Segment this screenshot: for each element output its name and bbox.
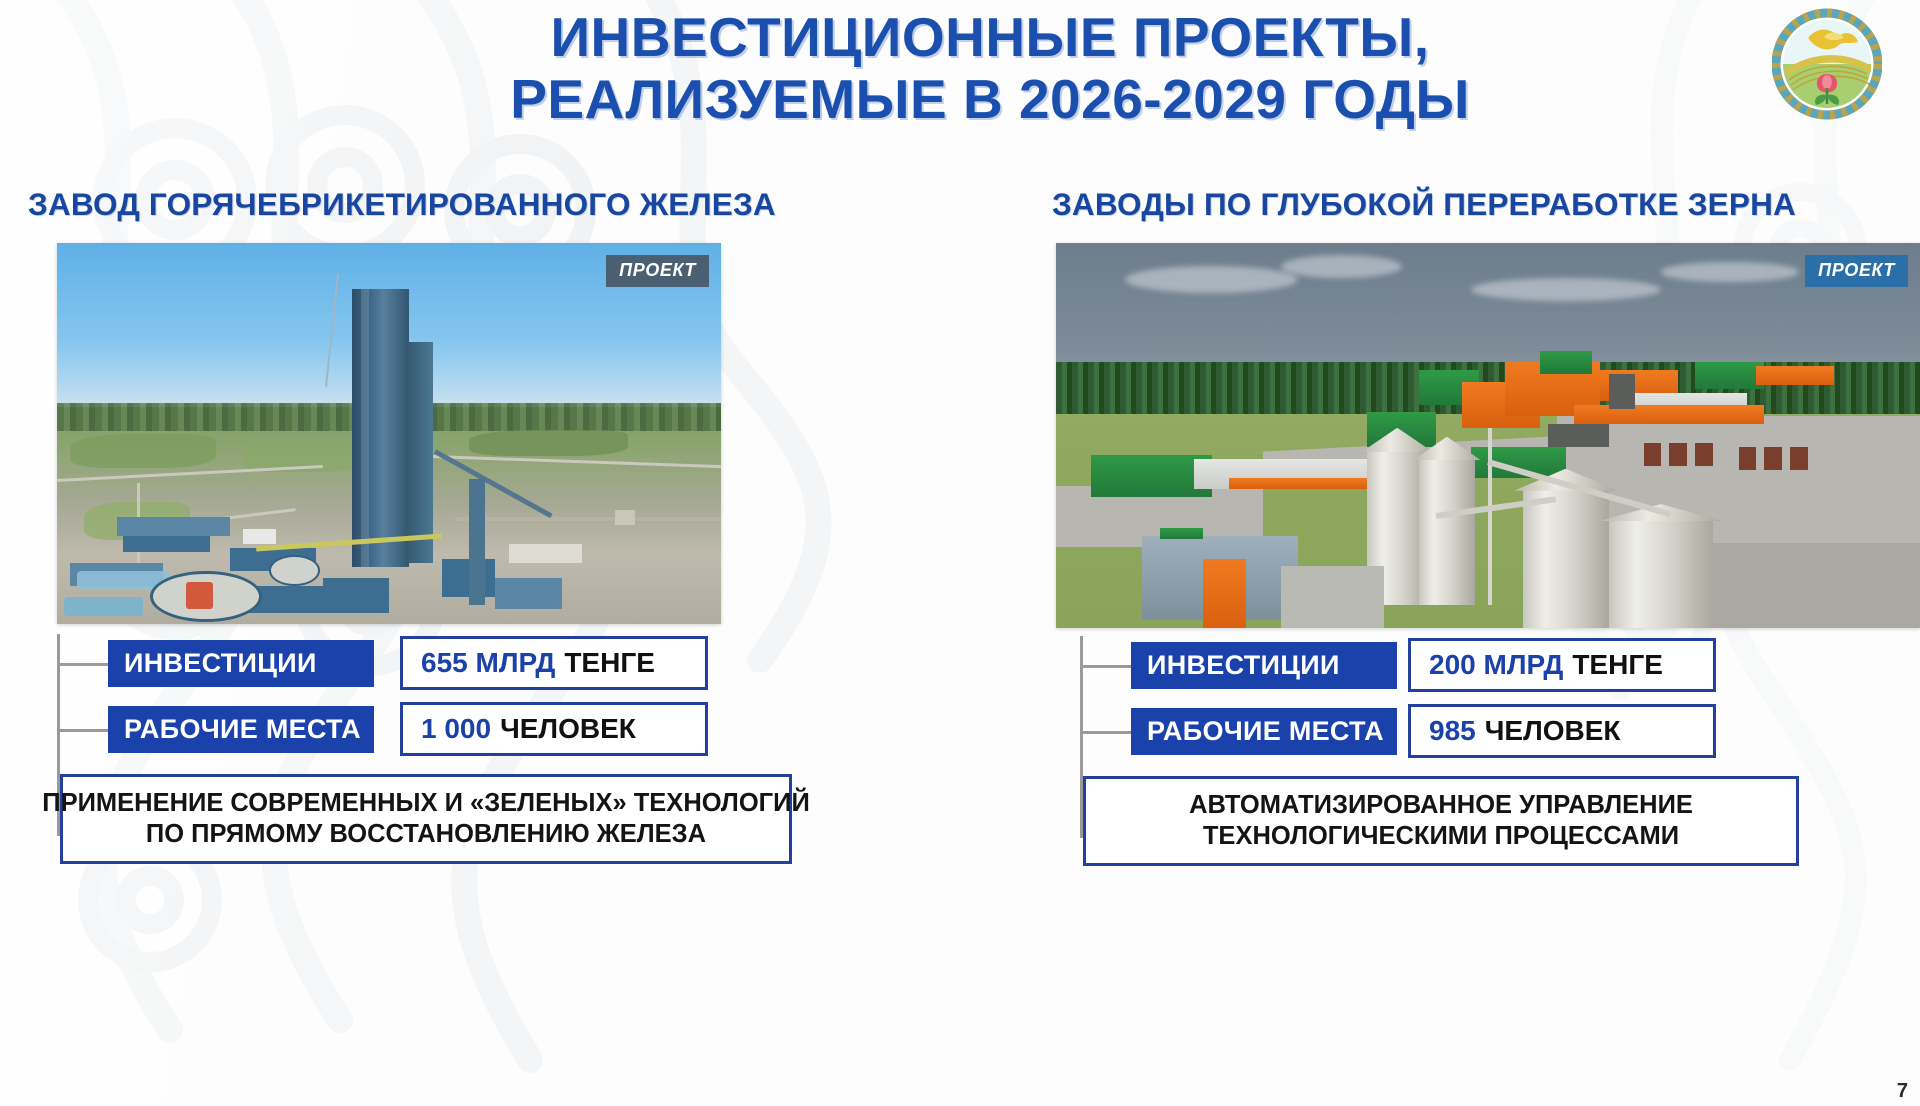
stat-label-jobs-right: РАБОЧИЕ МЕСТА — [1131, 708, 1397, 755]
page-number: 7 — [1897, 1080, 1908, 1103]
panel-hbi-plant: ЗАВОД ГОРЯЧЕБРИКЕТИРОВАННОГО ЖЕЛЕЗА — [0, 186, 960, 866]
regional-emblem-icon — [1772, 8, 1882, 120]
stat-value-invest-left: 655 МЛРД ТЕНГЕ — [400, 636, 708, 690]
connector-branch-invest-left — [60, 663, 108, 666]
page-title-line2: РЕАЛИЗУЕМЫЕ В 2026-2029 ГОДЫ — [250, 68, 1730, 130]
stat-label-jobs-left: РАБОЧИЕ МЕСТА — [108, 706, 374, 753]
photo-industrial-plant: ПРОЕКТ — [57, 243, 721, 624]
connector-branch-jobs-left — [60, 729, 108, 732]
footer-note-right: АВТОМАТИЗИРОВАННОЕ УПРАВЛЕНИЕ ТЕХНОЛОГИЧ… — [1083, 776, 1799, 866]
stat-value-jobs-unit-right: ЧЕЛОВЕК — [1485, 715, 1621, 747]
stats-hbi: ИНВЕСТИЦИИ 655 МЛРД ТЕНГЕ РАБОЧИЕ МЕСТА … — [57, 634, 937, 866]
stat-value-invest-number-right: 200 МЛРД — [1429, 649, 1563, 681]
connector-branch-invest-right — [1083, 665, 1131, 668]
stat-value-invest-right: 200 МЛРД ТЕНГЕ — [1408, 638, 1716, 692]
photo-grain-plant-render: ПРОЕКТ — [1056, 243, 1920, 628]
project-badge-left: ПРОЕКТ — [606, 255, 709, 287]
stat-value-jobs-number-left: 1 000 — [421, 713, 491, 745]
stats-grain: ИНВЕСТИЦИИ 200 МЛРД ТЕНГЕ РАБОЧИЕ МЕСТА … — [1056, 636, 1920, 868]
project-badge-right: ПРОЕКТ — [1805, 255, 1908, 287]
connector-branch-jobs-right — [1083, 731, 1131, 734]
stat-value-jobs-right: 985 ЧЕЛОВЕК — [1408, 704, 1716, 758]
panel-grain-plants: ЗАВОДЫ ПО ГЛУБОКОЙ ПЕРЕРАБОТКЕ ЗЕРНА — [1030, 186, 1920, 868]
stat-value-jobs-left: 1 000 ЧЕЛОВЕК — [400, 702, 708, 756]
page-title: ИНВЕСТИЦИОННЫЕ ПРОЕКТЫ, РЕАЛИЗУЕМЫЕ В 20… — [250, 6, 1730, 130]
stat-label-invest-left: ИНВЕСТИЦИИ — [108, 640, 374, 687]
footer-note-right-line2: ТЕХНОЛОГИЧЕСКИМИ ПРОЦЕССАМИ — [1203, 821, 1679, 852]
panel-heading-grain: ЗАВОДЫ ПО ГЛУБОКОЙ ПЕРЕРАБОТКЕ ЗЕРНА — [1052, 186, 1920, 223]
stat-label-invest-right: ИНВЕСТИЦИИ — [1131, 642, 1397, 689]
stat-value-jobs-number-right: 985 — [1429, 715, 1476, 747]
stat-value-invest-number-left: 655 МЛРД — [421, 647, 555, 679]
page-title-line1: ИНВЕСТИЦИОННЫЕ ПРОЕКТЫ, — [250, 6, 1730, 68]
footer-note-left-line1: ПРИМЕНЕНИЕ СОВРЕМЕННЫХ И «ЗЕЛЕНЫХ» ТЕХНО… — [42, 788, 810, 819]
stat-value-invest-unit-left: ТЕНГЕ — [564, 647, 655, 679]
footer-note-left: ПРИМЕНЕНИЕ СОВРЕМЕННЫХ И «ЗЕЛЕНЫХ» ТЕХНО… — [60, 774, 792, 864]
panel-heading-hbi: ЗАВОД ГОРЯЧЕБРИКЕТИРОВАННОГО ЖЕЛЕЗА — [28, 186, 960, 223]
stat-value-jobs-unit-left: ЧЕЛОВЕК — [500, 713, 636, 745]
header: ИНВЕСТИЦИОННЫЕ ПРОЕКТЫ, РЕАЛИЗУЕМЫЕ В 20… — [0, 0, 1920, 170]
footer-note-left-line2: ПО ПРЯМОМУ ВОССТАНОВЛЕНИЮ ЖЕЛЕЗА — [146, 819, 706, 850]
footer-note-right-line1: АВТОМАТИЗИРОВАННОЕ УПРАВЛЕНИЕ — [1189, 790, 1693, 821]
stat-value-invest-unit-right: ТЕНГЕ — [1572, 649, 1663, 681]
